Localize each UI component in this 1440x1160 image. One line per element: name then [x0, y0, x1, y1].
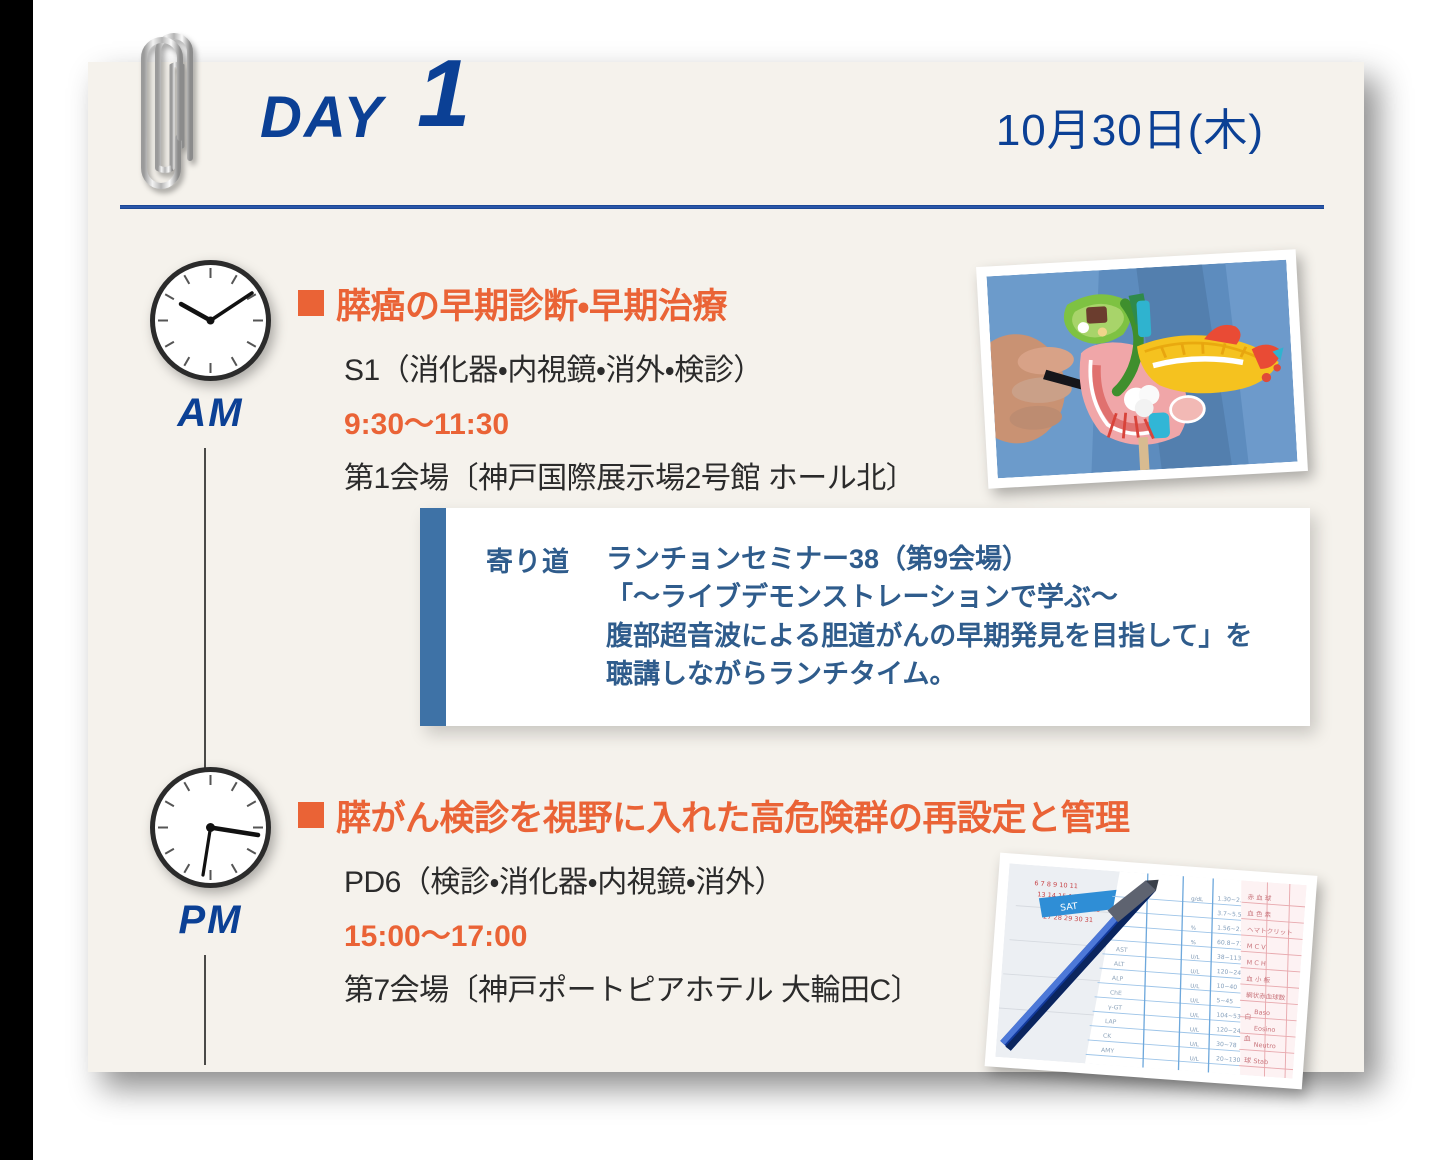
square-bullet-icon — [298, 802, 324, 828]
svg-text:U/L: U/L — [1190, 1027, 1200, 1034]
svg-text:γ-GT: γ-GT — [1108, 1004, 1123, 1012]
timeline-connector-pm — [204, 955, 206, 1065]
session-time-am: 9:30〜11:30 — [344, 399, 915, 443]
day-word-label: DAY — [260, 84, 384, 151]
svg-text:AMY: AMY — [1101, 1047, 1115, 1055]
lab-test-form-photo: 6 7 8 9 10 11 13 14 15 16 17 18 20 21 22… — [985, 853, 1318, 1090]
svg-text:Neutro: Neutro — [1253, 1041, 1276, 1050]
note-text: ランチョンセミナー38（第9会場） 「〜ライブデモンストレーションで学ぶ〜 腹部… — [606, 540, 1252, 693]
square-bullet-icon — [298, 290, 324, 316]
svg-text:U/L: U/L — [1190, 1042, 1200, 1049]
svg-text:ALP: ALP — [1112, 975, 1124, 983]
session-code-am: S1（消化器・内視鏡・消外・検診） — [344, 345, 915, 389]
svg-text:血: 血 — [1243, 1034, 1251, 1043]
session-title-pm: 膵がん検診を視野に入れた高危険群の再設定と管理 — [298, 790, 1130, 841]
detour-note-box: 寄り道 ランチョンセミナー38（第9会場） 「〜ライブデモンストレーションで学ぶ… — [420, 508, 1310, 726]
note-line-2: 「〜ライブデモンストレーションで学ぶ〜 — [606, 578, 1252, 616]
note-line-3: 腹部超音波による胆道がんの早期発見を目指して」を — [606, 617, 1252, 655]
svg-text:ChE: ChE — [1110, 989, 1123, 997]
pancreas-model-photo — [976, 249, 1308, 489]
page-root: DAY 1 10月30日(木) — [0, 0, 1440, 1160]
paperclip-icon — [140, 18, 210, 198]
svg-text:U/L: U/L — [1190, 1013, 1200, 1020]
svg-text:%: % — [1190, 940, 1196, 946]
period-label-pm: PM — [140, 898, 281, 943]
session-title-am: 膵癌の早期診断・早期治療 — [298, 278, 915, 329]
timeline-marker-pm: PM — [140, 765, 290, 943]
left-edge-band — [0, 0, 33, 1160]
session-venue-am: 第1会場〔神戸国際展示場2号館 ホール北〕 — [344, 453, 915, 497]
svg-text:白: 白 — [1244, 1012, 1252, 1021]
svg-text:M C H: M C H — [1246, 958, 1266, 967]
note-line-1: ランチョンセミナー38（第9会場） — [606, 540, 1252, 578]
svg-text:M C V: M C V — [1247, 942, 1267, 951]
svg-text:LAP: LAP — [1105, 1018, 1117, 1026]
svg-text:U/L: U/L — [1190, 998, 1200, 1005]
note-accent-bar — [420, 508, 446, 726]
svg-text:AST: AST — [1116, 946, 1129, 954]
date-label: 10月30日(木) — [996, 94, 1264, 158]
svg-text:ALT: ALT — [1114, 961, 1125, 969]
analog-clock-icon-pm — [148, 765, 273, 890]
note-line-4: 聴講しながらランチタイム。 — [606, 655, 1252, 693]
svg-text:U/L: U/L — [1190, 969, 1200, 976]
card-header: DAY 1 10月30日(木) — [152, 32, 1272, 182]
note-label: 寄り道 — [486, 540, 606, 693]
svg-text:U/L: U/L — [1190, 984, 1200, 991]
svg-text:Baso: Baso — [1254, 1008, 1271, 1017]
svg-text:球: 球 — [1244, 1055, 1252, 1064]
day-number-label: 1 — [417, 46, 470, 142]
timeline-marker-am: AM — [140, 258, 290, 436]
svg-text:%: % — [1191, 925, 1197, 931]
svg-text:SAT: SAT — [1060, 901, 1079, 914]
svg-text:Eosino: Eosino — [1254, 1024, 1276, 1033]
svg-text:g/dL: g/dL — [1191, 896, 1204, 903]
period-label-am: AM — [140, 391, 281, 436]
analog-clock-icon-am — [148, 258, 273, 383]
session-block-am: 膵癌の早期診断・早期治療 S1（消化器・内視鏡・消外・検診） 9:30〜11:3… — [298, 278, 915, 497]
svg-text:U/L: U/L — [1190, 955, 1200, 962]
header-divider — [120, 205, 1324, 209]
svg-text:U/L: U/L — [1189, 1056, 1199, 1063]
svg-text:5~45: 5~45 — [1216, 997, 1233, 1005]
svg-text:Stab: Stab — [1253, 1057, 1268, 1066]
timeline-connector-am — [204, 448, 206, 768]
